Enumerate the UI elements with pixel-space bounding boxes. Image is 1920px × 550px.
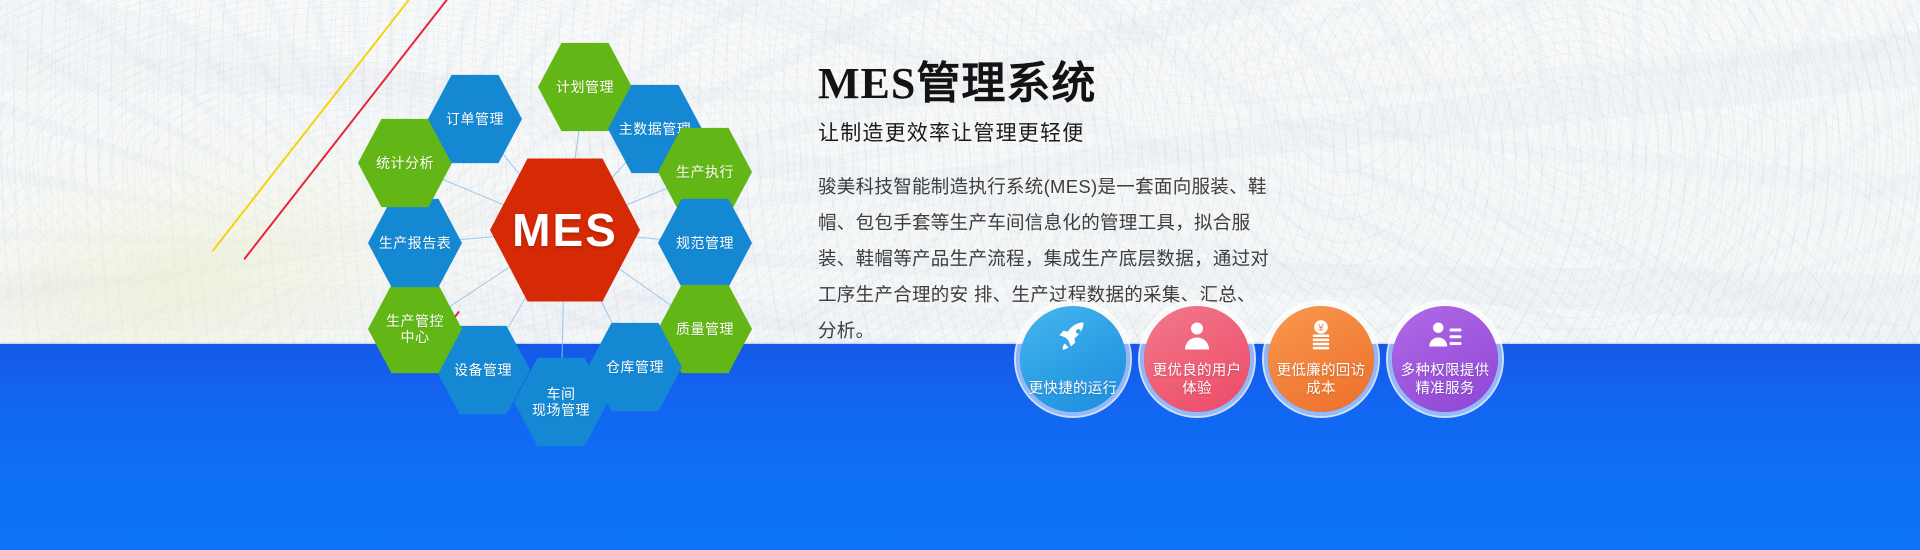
- diagram-node-label: 统计分析: [376, 155, 434, 171]
- diagram-node[interactable]: 规范管理: [658, 196, 752, 290]
- diagram-node-label: 质量管理: [676, 321, 734, 337]
- diagram-node-label: 规范管理: [676, 235, 734, 251]
- feature-badge[interactable]: 更优良的用户体验: [1144, 306, 1250, 412]
- diagram-node-label: 设备管理: [454, 362, 512, 378]
- money-icon: ¥: [1303, 318, 1339, 354]
- blue-band: [0, 344, 1920, 550]
- diagram-node[interactable]: 生产报告表: [368, 196, 462, 290]
- feature-badge-row: 更快捷的运行更优良的用户体验¥更低廉的回访成本多种权限提供精准服务: [1020, 306, 1498, 412]
- feature-badge[interactable]: 更快捷的运行: [1020, 306, 1126, 412]
- diagram-node-label: 生产管控中心: [386, 313, 444, 345]
- diagram-node-label: 计划管理: [556, 79, 614, 95]
- diagram-center-node[interactable]: MES: [490, 154, 640, 306]
- feature-badge[interactable]: 多种权限提供精准服务: [1392, 306, 1498, 412]
- diagram-node-label: 生产执行: [676, 164, 734, 180]
- feature-badge[interactable]: ¥更低廉的回访成本: [1268, 306, 1374, 412]
- mes-hero-banner: 计划管理主数据管理生产执行规范管理质量管理仓库管理车间现场管理设备管理生产管控中…: [0, 0, 1920, 550]
- user-list-icon: [1427, 318, 1463, 354]
- user-icon: [1179, 318, 1215, 354]
- rocket-icon: [1055, 318, 1091, 354]
- diagram-node-label: 订单管理: [446, 111, 504, 127]
- page-subtitle: 让制造更效率让管理更轻便: [818, 117, 1518, 147]
- diagram-node-label: 生产报告表: [379, 235, 452, 251]
- diagram-node-label: 仓库管理: [606, 359, 664, 375]
- mes-hexagon-diagram: 计划管理主数据管理生产执行规范管理质量管理仓库管理车间现场管理设备管理生产管控中…: [330, 10, 800, 430]
- page-title: MES管理系统: [818, 60, 1518, 108]
- diagram-node-label: 车间现场管理: [532, 386, 590, 418]
- svg-text:¥: ¥: [1317, 323, 1324, 334]
